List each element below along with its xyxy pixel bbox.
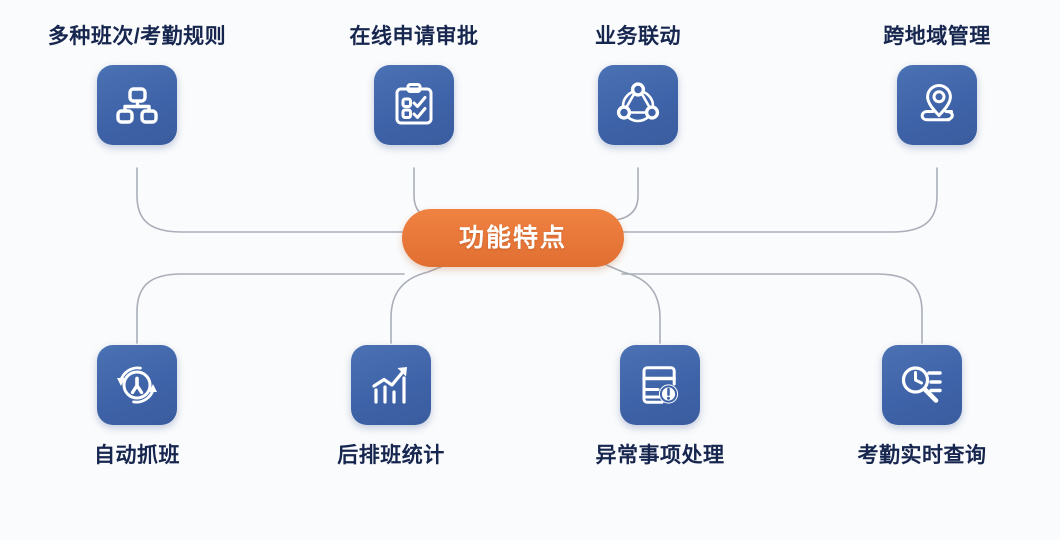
node-business-linkage[interactable]: 业务联动 [548,26,728,145]
node-shift-statistics[interactable]: 后排班统计 [301,345,481,466]
node-label-shift-rules: 多种班次/考勤规则 [47,26,227,47]
node-cross-region[interactable]: 跨地域管理 [847,26,1027,145]
icon-tile-online-approval[interactable] [374,65,454,145]
bar-chart-trend-icon [367,361,415,409]
share-network-icon [614,81,662,129]
node-label-shift-statistics: 后排班统计 [301,445,481,466]
node-label-business-linkage: 业务联动 [548,26,728,47]
connector-shift-statistics [391,264,448,343]
icon-tile-realtime-query[interactable] [882,345,962,425]
refresh-clock-check-icon [113,361,161,409]
node-label-realtime-query: 考勤实时查询 [832,445,1012,466]
magnifier-clock-list-icon [898,361,946,409]
icon-tile-shift-rules[interactable] [97,65,177,145]
connector-shift-rules [137,168,404,232]
node-shift-rules[interactable]: 多种班次/考勤规则 [47,26,227,145]
connector-cross-region [622,168,937,232]
connector-realtime-query [622,274,922,343]
node-realtime-query[interactable]: 考勤实时查询 [832,345,1012,466]
icon-tile-cross-region[interactable] [897,65,977,145]
map-pin-route-icon [913,81,961,129]
icon-tile-business-linkage[interactable] [598,65,678,145]
node-label-online-approval: 在线申请审批 [324,26,504,47]
connector-exception-handling [604,264,660,343]
node-exception-handling[interactable]: 异常事项处理 [570,345,750,466]
node-label-exception-handling: 异常事项处理 [570,445,750,466]
clipboard-check-icon [390,81,438,129]
center-node-label: 功能特点 [459,226,567,251]
node-auto-shift[interactable]: 自动抓班 [47,345,227,466]
connector-auto-shift [137,274,404,343]
node-online-approval[interactable]: 在线申请审批 [324,26,504,145]
diagram-canvas: 功能特点 多种班次/考勤规则 在线申请审批 [0,0,1060,540]
icon-tile-exception-handling[interactable] [620,345,700,425]
sitemap-hierarchy-icon [113,81,161,129]
icon-tile-shift-statistics[interactable] [351,345,431,425]
node-label-cross-region: 跨地域管理 [847,26,1027,47]
center-node-功能特点[interactable]: 功能特点 [402,209,624,267]
icon-tile-auto-shift[interactable] [97,345,177,425]
node-label-auto-shift: 自动抓班 [47,445,227,466]
document-alert-icon [636,361,684,409]
